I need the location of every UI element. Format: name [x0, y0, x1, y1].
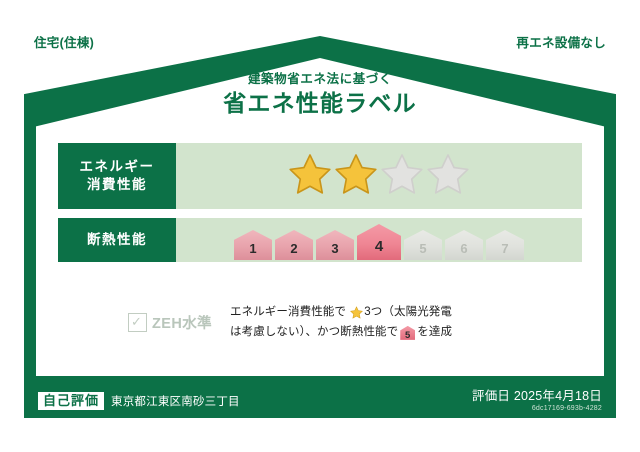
- insulation-label: 断熱性能: [87, 231, 147, 249]
- zeh-standard-note: ✓ ZEH水準 エネルギー消費性能で 3つ（太陽光発電 は考慮しない）、かつ断熱…: [128, 304, 548, 342]
- row-insulation-performance-value: 1234567: [176, 218, 582, 262]
- insulation-level-number: 6: [460, 242, 467, 260]
- insulation-scale: 1234567: [234, 220, 524, 260]
- badge-renewable-equipment: 再エネ設備なし: [506, 29, 616, 53]
- insulation-level-5: 5: [404, 230, 442, 260]
- energy-label-line2: 消費性能: [87, 176, 147, 194]
- status-badge-self-evaluation: 自己評価: [38, 392, 104, 411]
- insulation-level-1: 1: [234, 230, 272, 260]
- badge-building-type: 住宅(住棟): [24, 29, 104, 53]
- insulation-level-2: 2: [275, 230, 313, 260]
- energy-label-line1: エネルギー: [80, 158, 155, 176]
- footer-right-group: 評価日 2025年4月18日 6dc17169-693b-4282: [472, 389, 602, 413]
- badge-renewable-equipment-label: 再エネ設備なし: [516, 32, 606, 51]
- zeh-checkbox: ✓: [128, 313, 147, 332]
- check-icon: ✓: [131, 315, 142, 328]
- star-filled-icon: [334, 152, 378, 201]
- label-title-block: 建築物省エネ法に基づく 省エネ性能ラベル: [0, 72, 640, 118]
- insulation-level-4: 4: [357, 224, 401, 260]
- star-filled-icon: [288, 152, 332, 201]
- insulation-level-number: 7: [501, 242, 508, 260]
- zeh-desc-line2-a: は考慮しない）、かつ断熱性能で: [230, 326, 398, 338]
- star-empty-icon: [380, 152, 424, 201]
- badge-building-type-label: 住宅(住棟): [34, 32, 94, 51]
- footer-left-group: 自己評価 東京都江東区南砂三丁目: [38, 392, 240, 411]
- page-title: 省エネ性能ラベル: [0, 89, 640, 118]
- row-insulation-performance-label: 断熱性能: [58, 218, 176, 262]
- insulation-level-number: 2: [290, 242, 297, 260]
- star-empty-icon: [426, 152, 470, 201]
- document-id: 6dc17169-693b-4282: [472, 405, 602, 413]
- insulation-level-number: 3: [331, 242, 338, 260]
- row-energy-performance-label: エネルギー 消費性能: [58, 143, 176, 209]
- insulation-level-6: 6: [445, 230, 483, 260]
- insulation-level-number: 4: [375, 239, 383, 260]
- star-icon-inline: [347, 308, 363, 320]
- zeh-desc-line2-b: を達成: [417, 326, 452, 338]
- label-footer: 自己評価 東京都江東区南砂三丁目 評価日 2025年4月18日 6dc17169…: [24, 384, 616, 418]
- metrics-container: エネルギー 消費性能 断熱性能 1234567: [58, 143, 582, 271]
- evaluation-date-value: 2025年4月18日: [514, 389, 602, 403]
- zeh-desc-line1-b: 3つ（太陽光発電: [364, 306, 452, 318]
- title-subtitle: 建築物省エネ法に基づく: [0, 72, 640, 87]
- row-energy-performance: エネルギー 消費性能: [58, 143, 582, 209]
- zeh-desc-line1-a: エネルギー消費性能で: [230, 306, 346, 318]
- insulation-chip-inline: 5: [400, 326, 415, 340]
- star-rating: [288, 152, 470, 201]
- row-energy-performance-value: [176, 143, 582, 209]
- evaluation-date-label: 評価日: [472, 389, 510, 403]
- insulation-level-number: 1: [249, 242, 256, 260]
- insulation-level-3: 3: [316, 230, 354, 260]
- energy-performance-label: 住宅(住棟) 再エネ設備なし 建築物省エネ法に基づく 省エネ性能ラベル エネルギ…: [0, 0, 640, 452]
- property-address: 東京都江東区南砂三丁目: [111, 393, 240, 409]
- insulation-level-number: 5: [419, 242, 426, 260]
- zeh-label: ZEH水準: [152, 312, 212, 333]
- evaluation-date: 評価日 2025年4月18日: [472, 389, 602, 404]
- zeh-description: エネルギー消費性能で 3つ（太陽光発電 は考慮しない）、かつ断熱性能で5を達成: [230, 304, 452, 342]
- row-insulation-performance: 断熱性能 1234567: [58, 218, 582, 262]
- insulation-level-7: 7: [486, 230, 524, 260]
- zeh-badge: ✓ ZEH水準: [128, 312, 220, 333]
